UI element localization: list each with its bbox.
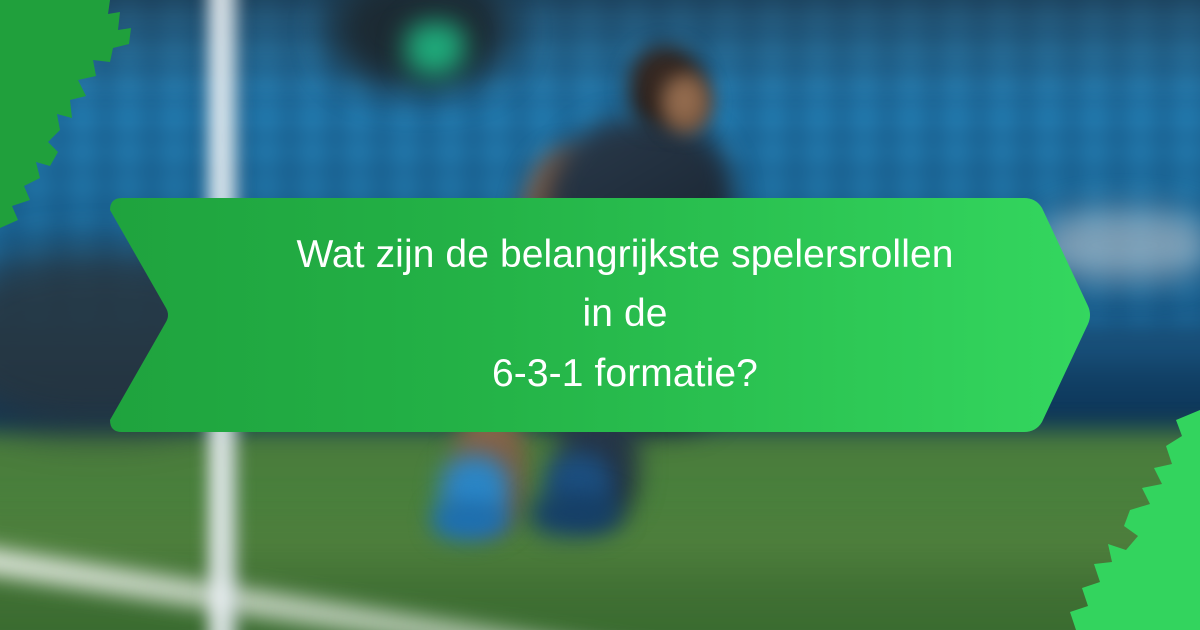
player-boot-left	[432, 500, 510, 540]
player-face	[660, 72, 712, 134]
banner-headline: Wat zijn de belangrijkste spelersrollen …	[278, 196, 972, 434]
top-shadow-band	[0, 0, 1200, 90]
social-card: Wat zijn de belangrijkste spelersrollen …	[0, 0, 1200, 630]
player-boot-right	[530, 492, 622, 536]
ribbon-banner: Wat zijn de belangrijkste spelersrollen …	[108, 196, 1092, 434]
jagged-green-corner-bottom-right-icon	[1050, 410, 1200, 630]
teal-accent-blob	[405, 22, 465, 76]
